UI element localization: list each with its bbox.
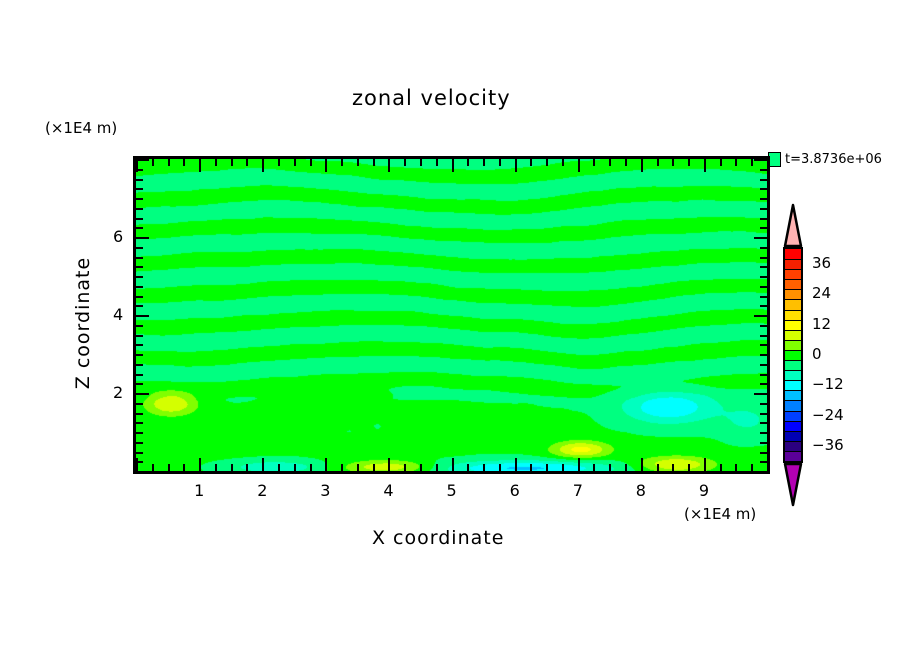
tick-mark	[720, 464, 722, 471]
tick-mark	[136, 452, 143, 454]
tick-mark	[483, 159, 485, 166]
x-tick-label: 9	[699, 481, 709, 500]
x-tick-label: 4	[383, 481, 393, 500]
tick-mark	[760, 461, 767, 463]
tick-mark	[515, 458, 517, 471]
tick-mark	[278, 159, 280, 166]
tick-mark	[152, 464, 154, 471]
colorbar-segment	[785, 360, 801, 370]
x-tick-label: 8	[636, 481, 646, 500]
tick-mark	[136, 218, 143, 220]
tick-mark	[136, 335, 143, 337]
tick-mark	[704, 458, 706, 471]
colorbar-segment	[785, 421, 801, 431]
tick-mark	[760, 354, 767, 356]
tick-mark	[754, 471, 767, 473]
tick-mark	[751, 159, 753, 166]
tick-mark	[199, 159, 201, 172]
tick-mark	[641, 159, 643, 172]
tick-mark	[136, 227, 143, 229]
tick-mark	[760, 266, 767, 268]
tick-mark	[760, 413, 767, 415]
tick-mark	[688, 159, 690, 166]
tick-mark	[760, 227, 767, 229]
tick-mark	[136, 413, 143, 415]
colorbar-segment	[785, 249, 801, 259]
tick-mark	[325, 458, 327, 471]
colorbar-segment	[785, 411, 801, 421]
tick-mark	[341, 464, 343, 471]
colorbar-segment	[785, 269, 801, 279]
tick-mark	[467, 464, 469, 471]
colorbar-tick-label: −24	[812, 406, 844, 424]
colorbar-under-arrow	[783, 463, 803, 507]
tick-mark	[183, 464, 185, 471]
tick-mark	[246, 159, 248, 166]
tick-mark	[231, 464, 233, 471]
tick-mark	[452, 458, 454, 471]
tick-mark	[215, 464, 217, 471]
tick-mark	[625, 159, 627, 166]
tick-mark	[760, 188, 767, 190]
tick-mark	[136, 179, 143, 181]
tick-mark	[546, 464, 548, 471]
colorbar-tick-label: 12	[812, 315, 831, 333]
tick-mark	[136, 432, 143, 434]
tick-mark	[373, 464, 375, 471]
tick-mark	[760, 218, 767, 220]
tick-mark	[136, 471, 149, 473]
tick-mark	[436, 464, 438, 471]
tick-mark	[452, 159, 454, 172]
tick-mark	[760, 374, 767, 376]
tick-mark	[754, 237, 767, 239]
tick-mark	[760, 286, 767, 288]
tick-mark	[294, 159, 296, 166]
tick-mark	[325, 159, 327, 172]
colorbar-segment	[785, 330, 801, 340]
x-tick-label: 7	[573, 481, 583, 500]
colorbar-tick-label: 24	[812, 284, 831, 302]
tick-mark	[310, 464, 312, 471]
tick-mark	[404, 464, 406, 471]
tick-mark	[760, 257, 767, 259]
y-tick-label: 2	[113, 383, 123, 402]
y-tick-label: 6	[113, 227, 123, 246]
tick-mark	[136, 364, 143, 366]
colorbar-segment	[785, 451, 801, 461]
tick-mark	[760, 305, 767, 307]
tick-mark	[657, 464, 659, 471]
colorbar-tick-label: 0	[812, 345, 822, 363]
tick-mark	[657, 159, 659, 166]
tick-mark	[593, 464, 595, 471]
tick-mark	[215, 159, 217, 166]
x-tick-label: 3	[320, 481, 330, 500]
tick-mark	[760, 179, 767, 181]
colorbar-segment	[785, 380, 801, 390]
tick-mark	[136, 305, 143, 307]
tick-mark	[767, 159, 769, 172]
tick-mark	[136, 169, 143, 171]
y-axis-title: Z coordinate	[68, 230, 98, 420]
tick-mark	[183, 159, 185, 166]
colorbar-segment	[785, 370, 801, 380]
tick-mark	[136, 374, 143, 376]
tick-mark	[136, 286, 143, 288]
tick-mark	[168, 159, 170, 166]
tick-mark	[760, 422, 767, 424]
tick-mark	[760, 364, 767, 366]
colorbar-segment	[785, 441, 801, 451]
tick-mark	[760, 276, 767, 278]
tick-mark	[760, 442, 767, 444]
colorbar-segment	[785, 340, 801, 350]
tick-mark	[136, 276, 143, 278]
colorbar-segment	[785, 279, 801, 289]
colorbar-segment	[785, 289, 801, 299]
tick-mark	[672, 159, 674, 166]
tick-mark	[136, 296, 143, 298]
tick-mark	[136, 237, 149, 239]
tick-mark	[760, 403, 767, 405]
tick-mark	[357, 159, 359, 166]
tick-mark	[262, 159, 264, 172]
timestamp-label: t=3.8736e+06	[785, 152, 882, 167]
tick-mark	[688, 464, 690, 471]
tick-mark	[199, 458, 201, 471]
tick-mark	[499, 464, 501, 471]
tick-mark	[499, 159, 501, 166]
tick-mark	[483, 464, 485, 471]
y-axis-unit-label: (×1E4 m)	[45, 119, 117, 137]
tick-mark	[704, 159, 706, 172]
tick-mark	[625, 464, 627, 471]
x-axis-title: X coordinate	[372, 527, 504, 549]
colorbar-segment	[785, 310, 801, 320]
tick-mark	[760, 247, 767, 249]
tick-mark	[168, 464, 170, 471]
tick-mark	[136, 461, 143, 463]
tick-mark	[404, 159, 406, 166]
tick-mark	[420, 159, 422, 166]
tick-mark	[136, 266, 143, 268]
colorbar-tick-label: −12	[812, 375, 844, 393]
tick-mark	[760, 198, 767, 200]
tick-mark	[720, 159, 722, 166]
tick-mark	[467, 159, 469, 166]
tick-mark	[262, 458, 264, 471]
tick-mark	[388, 159, 390, 172]
tick-mark	[294, 464, 296, 471]
tick-mark	[136, 208, 143, 210]
y-tick-label: 4	[113, 305, 123, 324]
tick-mark	[136, 344, 143, 346]
x-axis-unit-label: (×1E4 m)	[684, 505, 756, 523]
tick-mark	[530, 464, 532, 471]
tick-mark	[136, 257, 143, 259]
tick-mark	[136, 442, 143, 444]
tick-mark	[578, 458, 580, 471]
tick-mark	[760, 432, 767, 434]
x-tick-label: 2	[257, 481, 267, 500]
contour-field-canvas	[136, 159, 767, 471]
tick-mark	[530, 159, 532, 166]
tick-mark	[735, 159, 737, 166]
tick-mark	[136, 247, 143, 249]
tick-mark	[754, 159, 767, 161]
tick-mark	[760, 344, 767, 346]
tick-mark	[136, 458, 138, 471]
tick-mark	[136, 422, 143, 424]
page-title: zonal velocity	[352, 86, 511, 110]
tick-mark	[754, 315, 767, 317]
tick-mark	[136, 354, 143, 356]
tick-mark	[515, 159, 517, 172]
tick-mark	[593, 159, 595, 166]
colorbar-segment	[785, 390, 801, 400]
tick-mark	[136, 393, 149, 395]
tick-mark	[751, 464, 753, 471]
colorbar-tick-label: 36	[812, 254, 831, 272]
tick-mark	[136, 188, 143, 190]
tick-mark	[373, 159, 375, 166]
colorbar-over-arrow	[783, 203, 803, 247]
tick-mark	[357, 464, 359, 471]
colorbar-segment	[785, 320, 801, 330]
tick-mark	[609, 159, 611, 166]
tick-mark	[760, 383, 767, 385]
tick-mark	[136, 159, 149, 161]
tick-mark	[136, 383, 143, 385]
y-axis-title-text: Z coordinate	[72, 228, 94, 418]
tick-mark	[152, 159, 154, 166]
tick-mark	[735, 464, 737, 471]
tick-mark	[136, 325, 143, 327]
tick-mark	[388, 458, 390, 471]
colorbar-segment	[785, 299, 801, 309]
tick-mark	[767, 458, 769, 471]
tick-mark	[420, 464, 422, 471]
contour-plot-area[interactable]	[133, 156, 770, 474]
tick-mark	[609, 464, 611, 471]
tick-mark	[136, 403, 143, 405]
tick-mark	[760, 208, 767, 210]
tick-mark	[562, 159, 564, 166]
colorbar-segment	[785, 400, 801, 410]
tick-mark	[672, 464, 674, 471]
tick-mark	[341, 159, 343, 166]
tick-mark	[310, 159, 312, 166]
tick-mark	[760, 325, 767, 327]
tick-mark	[641, 458, 643, 471]
colorbar-segment	[785, 259, 801, 269]
tick-mark	[136, 315, 149, 317]
tick-mark	[562, 464, 564, 471]
tick-mark	[436, 159, 438, 166]
colorbar-segment	[785, 350, 801, 360]
tick-mark	[760, 296, 767, 298]
tick-mark	[578, 159, 580, 172]
x-tick-label: 1	[194, 481, 204, 500]
tick-mark	[246, 464, 248, 471]
tick-mark	[231, 159, 233, 166]
x-tick-label: 6	[510, 481, 520, 500]
tick-mark	[754, 393, 767, 395]
colorbar[interactable]	[783, 247, 803, 463]
x-tick-label: 5	[447, 481, 457, 500]
tick-mark	[136, 198, 143, 200]
tick-mark	[278, 464, 280, 471]
tick-mark	[760, 452, 767, 454]
tick-mark	[760, 169, 767, 171]
colorbar-tick-label: −36	[812, 436, 844, 454]
tick-mark	[760, 335, 767, 337]
tick-mark	[546, 159, 548, 166]
colorbar-segment	[785, 431, 801, 441]
